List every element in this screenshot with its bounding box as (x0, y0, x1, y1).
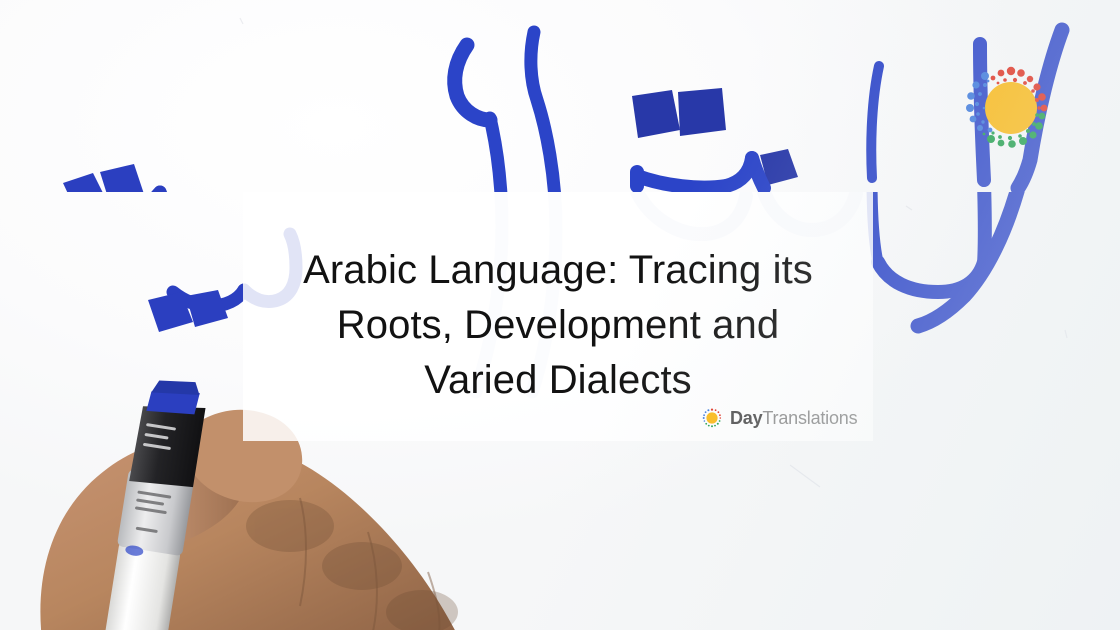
article-banner: Arabic Language: Tracing its Roots, Deve… (0, 0, 1120, 630)
brand-name-bold: Day (730, 408, 762, 428)
daytranslations-logo[interactable]: DayTranslations (700, 406, 857, 430)
sun-logo-watermark (955, 48, 1067, 170)
sun-logo-icon (700, 406, 724, 430)
page-title: Arabic Language: Tracing its Roots, Deve… (243, 243, 873, 408)
brand-wordmark: DayTranslations (730, 408, 857, 429)
brand-name-light: Translations (762, 408, 857, 428)
